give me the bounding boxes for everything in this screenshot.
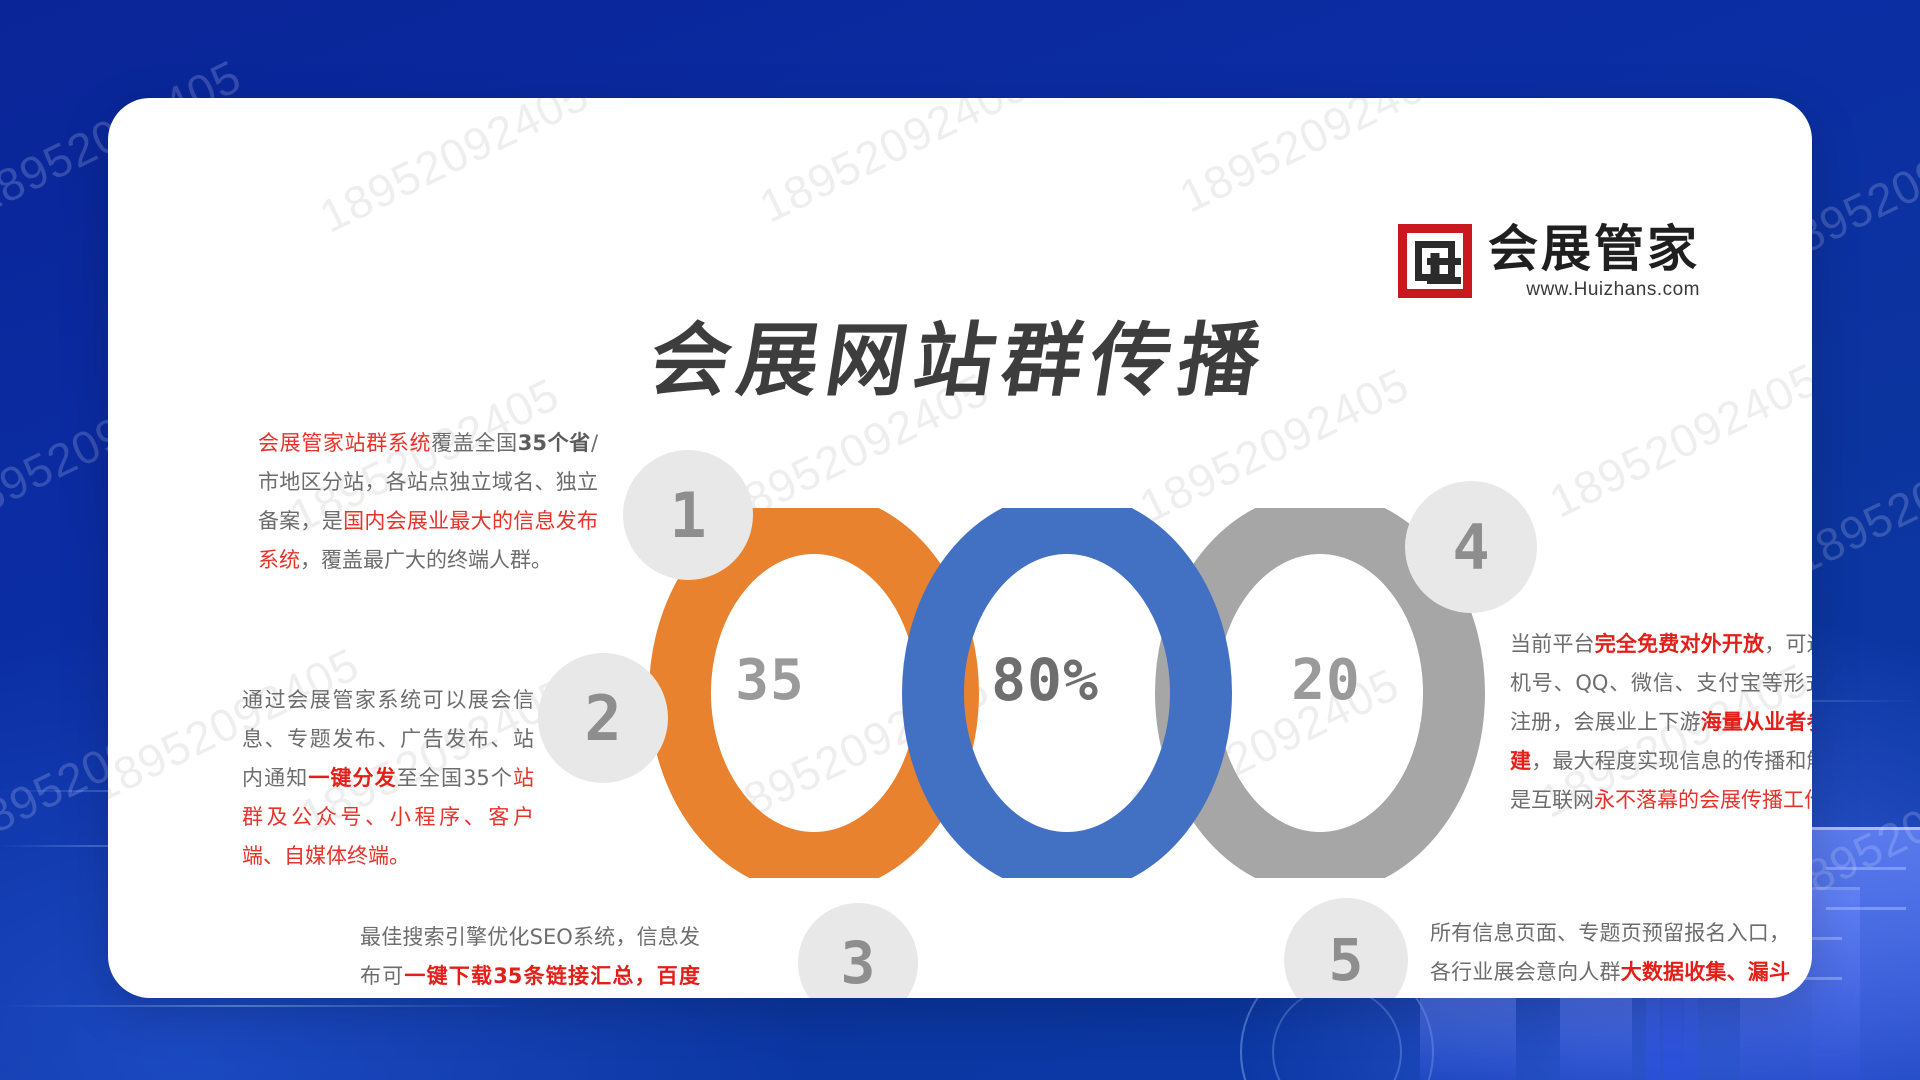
text-segment: 当前平台 [1510,632,1595,656]
text-segment: 一键分发 [308,766,396,790]
badge-1[interactable]: 1 [623,450,753,580]
page-title: 会展网站群传播 [108,296,1812,412]
rings-diagram: 35 80% 20 [592,508,1544,878]
watermark: 18952092405 [751,98,1037,233]
infographic-stage: 18952092405 18952092405 18952092405 1895… [0,0,1920,1080]
logo-mark-icon [1398,224,1472,298]
badge-3[interactable]: 3 [798,903,918,998]
text-segment: 一键下载35条链接汇总，百度同步收录率80%以上， [360,964,700,998]
badge-2[interactable]: 2 [538,653,668,783]
feature-text-3: 最佳搜索引擎优化SEO系统，信息发布可一键下载35条链接汇总，百度同步收录率80… [360,918,700,998]
ring-middle-value: 80% [940,646,1150,714]
brand-logo: 会展管家 www.Huizhans.com [1398,224,1700,301]
watermark: 18952092405 [311,98,597,243]
logo-brand-name: 会展管家 [1488,224,1700,275]
ring-right-value: 20 [1256,648,1396,713]
feature-text-2: 通过会展管家系统可以展会信息、专题发布、广告发布、站内通知一键分发至全国35个站… [242,681,534,876]
text-segment: 完全免费对外开放 [1595,632,1765,656]
feature-text-4: 当前平台完全免费对外开放，可通过手机号、QQ、微信、支付宝等形式登录注册，会展业… [1510,625,1812,820]
text-segment: 永不落幕的会展传播工作站 [1594,788,1812,812]
background-light-streak [0,1005,520,1007]
text-segment: ，覆盖最广大的终端人群。 [300,548,552,572]
ring-left-value: 35 [700,648,840,713]
badge-4[interactable]: 4 [1405,481,1537,613]
text-segment: 会展管家站群系统 [258,431,431,455]
watermark: 18952092405 [1171,98,1457,223]
feature-text-1: 会展管家站群系统覆盖全国35个省/市地区分站，各站点独立域名、独立备案，是国内会… [258,424,598,580]
text-segment: 覆盖全国 [431,431,518,455]
text-segment: 35个省 [518,431,591,455]
content-card: 18952092405 18952092405 18952092405 1895… [108,98,1812,998]
badge-5[interactable]: 5 [1284,898,1408,998]
text-segment: 至全国35个 [397,766,513,790]
feature-text-5: 所有信息页面、专题页预留报名入口，各行业展会意向人群大数据收集、漏斗筛选沉淀，提… [1430,914,1790,998]
